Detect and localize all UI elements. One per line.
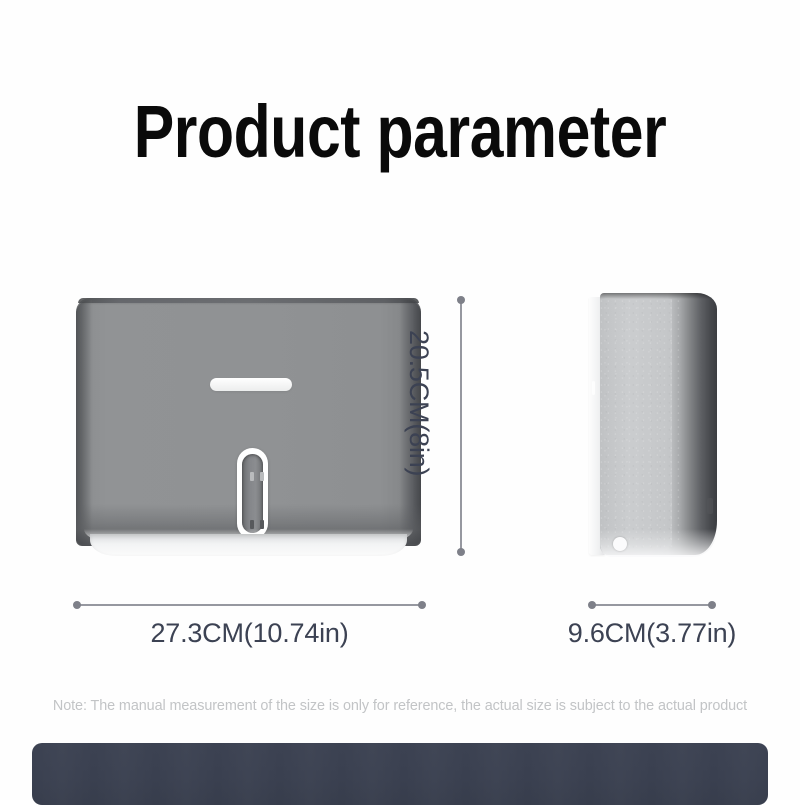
- product-parameter-page: Product parameter: [0, 0, 800, 800]
- dispenser-dispensing-lip: [90, 534, 407, 556]
- dispenser-side-screw-dot: [613, 537, 627, 551]
- product-side-view-image: [589, 293, 717, 561]
- width-dimension-label: 27.3CM(10.74in): [77, 618, 422, 649]
- height-dimension-dot-start: [457, 296, 465, 304]
- dispenser-view-window-slot: [237, 448, 268, 539]
- bottom-banner-panel: [32, 743, 768, 805]
- product-front-view-image: [76, 298, 421, 560]
- dispenser-side-notch: [707, 498, 713, 514]
- bottom-banner-sheen: [32, 743, 768, 805]
- depth-dimension-line: [592, 604, 712, 606]
- width-dimension-line: [77, 604, 422, 606]
- width-dimension-dot-end: [418, 601, 426, 609]
- dispenser-front-top-rim: [78, 298, 419, 303]
- dispenser-side-texture: [600, 299, 680, 549]
- height-dimension-dot-end: [457, 548, 465, 556]
- dispenser-slot-interior: [242, 454, 263, 533]
- measurement-disclaimer-note: Note: The manual measurement of the size…: [16, 697, 784, 714]
- slot-tick-bottom-right: [260, 520, 264, 529]
- depth-dimension-dot-end: [708, 601, 716, 609]
- slot-tick-bottom-left: [250, 520, 254, 529]
- width-dimension-dot-start: [73, 601, 81, 609]
- depth-dimension-label: 9.6CM(3.77in): [552, 618, 752, 649]
- dispenser-highlight-bar: [210, 378, 292, 391]
- dispenser-side-seam: [592, 381, 595, 395]
- height-dimension-line: [460, 300, 462, 552]
- slot-tick-top-left: [250, 472, 254, 481]
- page-title: Product parameter: [72, 92, 728, 172]
- depth-dimension-dot-start: [588, 601, 596, 609]
- slot-tick-top-right: [260, 472, 264, 481]
- height-dimension-label: 20.5CM(8in): [403, 330, 434, 530]
